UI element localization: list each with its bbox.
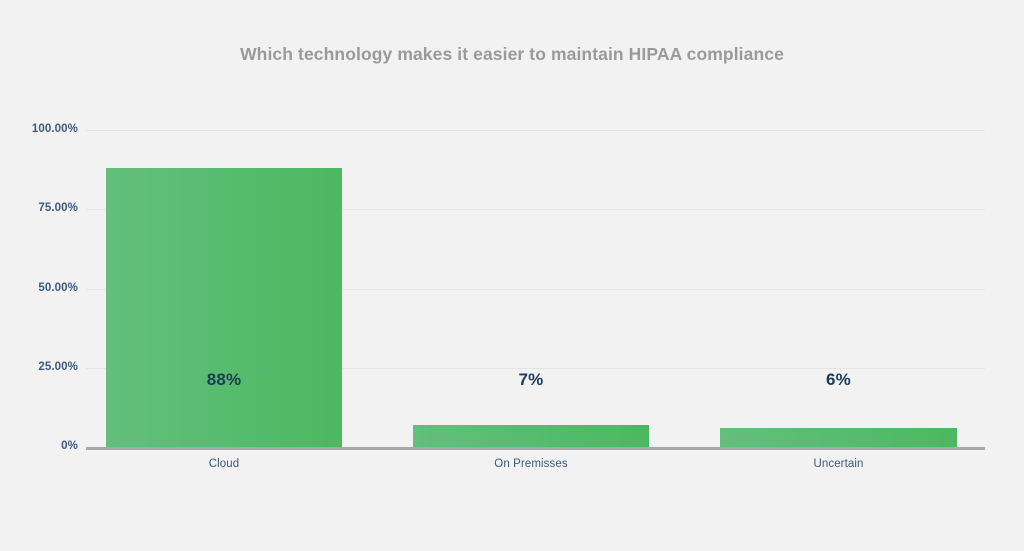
bar-value-label: 88% <box>106 370 342 390</box>
y-axis-tick-label: 75.00% <box>0 202 78 214</box>
bar-uncertain[interactable] <box>720 428 957 447</box>
x-axis-line <box>86 447 985 450</box>
x-axis-tick-label-uncertain: Uncertain <box>720 458 957 470</box>
bar-cloud[interactable] <box>106 168 342 447</box>
x-axis-tick-label-on-premisses: On Premisses <box>413 458 649 470</box>
x-axis: Cloud On Premisses Uncertain <box>86 458 985 482</box>
bar-value-label: 6% <box>720 370 957 390</box>
y-axis-tick-label: 0% <box>0 440 78 452</box>
y-axis-tick-label: 50.00% <box>0 282 78 294</box>
y-axis-tick-label: 25.00% <box>0 361 78 373</box>
bar-group-uncertain[interactable]: 6% <box>720 130 957 447</box>
x-axis-tick-label-cloud: Cloud <box>106 458 342 470</box>
bar-group-cloud[interactable]: 88% <box>106 130 342 447</box>
plot-area: 88% 7% 6% <box>86 130 985 447</box>
chart-card: Which technology makes it easier to main… <box>0 0 1024 551</box>
bar-on-premisses[interactable] <box>413 425 649 447</box>
y-axis: 100.00% 75.00% 50.00% 25.00% 0% <box>0 0 78 551</box>
chart-title: Which technology makes it easier to main… <box>0 44 1024 65</box>
bar-group-on-premisses[interactable]: 7% <box>413 130 649 447</box>
y-axis-tick-label: 100.00% <box>0 123 78 135</box>
bar-value-label: 7% <box>413 370 649 390</box>
